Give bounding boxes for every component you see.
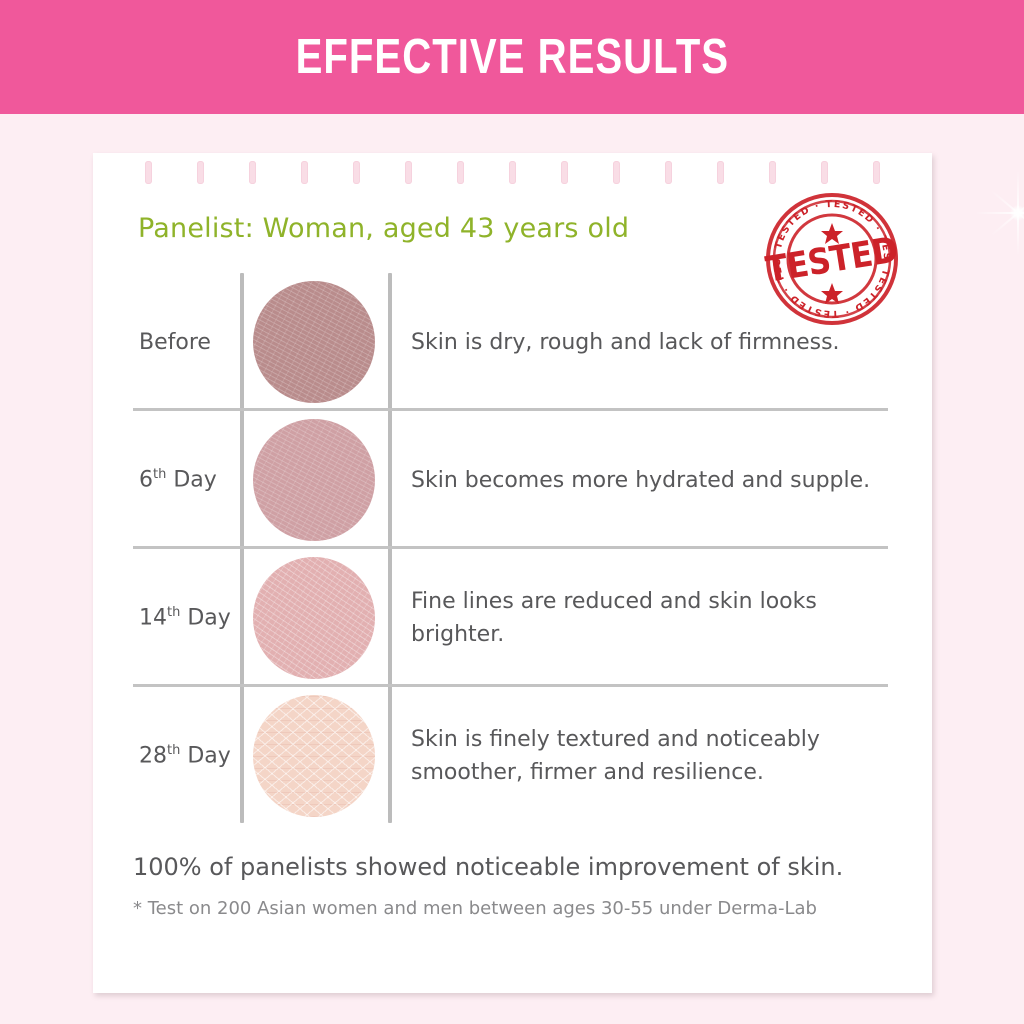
binding-tick (769, 161, 776, 184)
skin-swatch-day6 (253, 419, 375, 541)
row-day-value: 14 (139, 606, 167, 631)
table-row: 6th Day Skin becomes more hydrated and s… (133, 411, 888, 549)
row-day-label: Before (133, 330, 240, 355)
binding-tick (561, 161, 568, 184)
footer-note: * Test on 200 Asian women and men betwee… (133, 898, 817, 919)
header-banner: EFFECTIVE RESULTS (0, 0, 1024, 114)
binding-tick (197, 161, 204, 184)
binding-tick (405, 161, 412, 184)
table-row: Before Skin is dry, rough and lack of fi… (133, 273, 888, 411)
binding-tick (873, 161, 880, 184)
row-day-suffix: Day (180, 606, 230, 631)
row-day-ordinal: th (153, 467, 166, 482)
row-swatch-cell (240, 549, 388, 687)
binding-tick (145, 161, 152, 184)
row-day-ordinal: th (167, 605, 180, 620)
row-day-value: 6 (139, 468, 153, 493)
skin-swatch-before (253, 281, 375, 403)
row-day-label: 6th Day (133, 467, 240, 492)
results-card: Panelist: Woman, aged 43 years old TESTE… (93, 153, 932, 993)
row-description: Skin becomes more hydrated and supple. (411, 464, 881, 497)
binding-tick (301, 161, 308, 184)
row-day-ordinal: th (167, 743, 180, 758)
row-swatch-cell (240, 273, 388, 411)
binding-tick (821, 161, 828, 184)
binding-tick (665, 161, 672, 184)
row-day-label: 14th Day (133, 605, 240, 630)
row-swatch-cell (240, 687, 388, 825)
row-day-suffix: Day (166, 468, 216, 493)
results-table: Before Skin is dry, rough and lack of fi… (133, 273, 888, 856)
panelist-heading: Panelist: Woman, aged 43 years old (138, 213, 629, 244)
skin-swatch-day28 (253, 695, 375, 817)
table-row: 14th Day Fine lines are reduced and skin… (133, 549, 888, 687)
binding-tick (509, 161, 516, 184)
table-row: 28th Day Skin is finely textured and not… (133, 687, 888, 825)
row-swatch-cell (240, 411, 388, 549)
notebook-binding-ticks (93, 161, 932, 185)
row-description: Skin is finely textured and noticeably s… (411, 723, 881, 789)
page-title: EFFECTIVE RESULTS (295, 29, 728, 85)
binding-tick (613, 161, 620, 184)
row-day-value: 28 (139, 744, 167, 769)
row-day-suffix: Day (180, 744, 230, 769)
footer-summary: 100% of panelists showed noticeable impr… (133, 853, 843, 881)
binding-tick (457, 161, 464, 184)
row-day-label: 28th Day (133, 743, 240, 768)
row-description: Fine lines are reduced and skin looks br… (411, 585, 881, 651)
binding-tick (249, 161, 256, 184)
binding-tick (717, 161, 724, 184)
binding-tick (353, 161, 360, 184)
row-description: Skin is dry, rough and lack of firmness. (411, 326, 881, 359)
skin-swatch-day14 (253, 557, 375, 679)
row-day-value: Before (139, 330, 211, 355)
